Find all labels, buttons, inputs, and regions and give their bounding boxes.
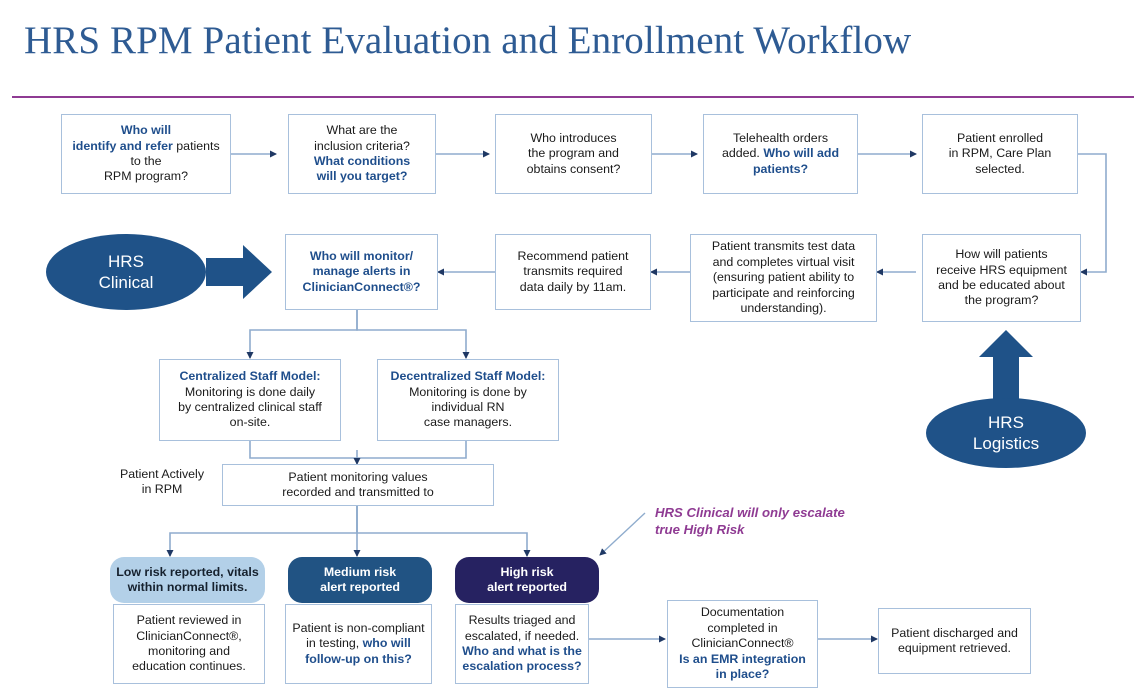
pill-text: Medium riskalert reported (320, 565, 400, 596)
box-text: Results triaged andescalated, if needed.… (462, 613, 582, 675)
oval-label: HRSLogistics (973, 412, 1039, 454)
high-risk-annotation: HRS Clinical will only escalatetrue High… (655, 504, 885, 538)
box-receive-equipment-education[interactable]: How will patientsreceive HRS equipmentan… (922, 234, 1081, 322)
box-text: Recommend patienttransmits requireddata … (518, 249, 629, 295)
page-title: HRS RPM Patient Evaluation and Enrollmen… (24, 18, 911, 64)
box-patient-monitoring-values[interactable]: Patient monitoring valuesrecorded and tr… (222, 464, 494, 506)
box-telehealth-orders[interactable]: Telehealth ordersadded. Who will addpati… (703, 114, 858, 194)
box-recommend-transmit-daily[interactable]: Recommend patienttransmits requireddata … (495, 234, 651, 310)
box-identify-and-refer[interactable]: Who willidentify and refer patients to t… (61, 114, 231, 194)
box-decentralized-staff-model[interactable]: Decentralized Staff Model:Monitoring is … (377, 359, 559, 441)
pill-text: High riskalert reported (487, 565, 567, 596)
hrs-logistics-block-arrow (979, 330, 1033, 400)
oval-label: HRSClinical (99, 251, 154, 293)
box-introduces-program[interactable]: Who introducesthe program andobtains con… (495, 114, 652, 194)
box-patient-discharged[interactable]: Patient discharged andequipment retrieve… (878, 608, 1031, 674)
box-text: Patient discharged andequipment retrieve… (891, 626, 1018, 657)
hrs-logistics-oval[interactable]: HRSLogistics (926, 398, 1086, 468)
label-text: Patient Activelyin RPM (120, 467, 204, 496)
box-patient-enrolled[interactable]: Patient enrolledin RPM, Care Planselecte… (922, 114, 1078, 194)
box-text: What are theinclusion criteria?What cond… (314, 123, 410, 185)
box-text: Who will monitor/manage alerts inClinici… (303, 249, 421, 295)
patient-actively-in-rpm-label: Patient Activelyin RPM (106, 467, 218, 498)
annotation-text: HRS Clinical will only escalatetrue High… (655, 505, 845, 537)
box-text: Centralized Staff Model:Monitoring is do… (178, 369, 322, 431)
hrs-clinical-oval[interactable]: HRSClinical (46, 234, 206, 310)
box-text: Decentralized Staff Model:Monitoring is … (391, 369, 546, 431)
box-text: Patient monitoring valuesrecorded and tr… (282, 470, 434, 501)
box-text: Who introducesthe program andobtains con… (527, 131, 621, 177)
box-text: Patient is non-compliantin testing, who … (292, 621, 424, 667)
box-text: Documentationcompleted inClinicianConnec… (679, 605, 806, 682)
box-text: How will patientsreceive HRS equipmentan… (936, 247, 1067, 309)
medium-risk-pill[interactable]: Medium riskalert reported (288, 557, 432, 603)
box-monitor-manage-alerts[interactable]: Who will monitor/manage alerts inClinici… (285, 234, 438, 310)
box-documentation-completed[interactable]: Documentationcompleted inClinicianConnec… (667, 600, 818, 688)
box-patient-reviewed[interactable]: Patient reviewed inClinicianConnect®,mon… (113, 604, 265, 684)
box-inclusion-criteria[interactable]: What are theinclusion criteria?What cond… (288, 114, 436, 194)
hrs-clinical-block-arrow (206, 245, 272, 299)
pill-text: Low risk reported, vitalswithin normal l… (116, 565, 259, 596)
high-risk-pill[interactable]: High riskalert reported (455, 557, 599, 603)
box-text: Patient transmits test dataand completes… (712, 239, 855, 316)
box-text: Who willidentify and refer patients to t… (67, 123, 225, 185)
box-centralized-staff-model[interactable]: Centralized Staff Model:Monitoring is do… (159, 359, 341, 441)
title-divider (12, 96, 1134, 98)
low-risk-pill[interactable]: Low risk reported, vitalswithin normal l… (110, 557, 265, 603)
box-text: Patient reviewed inClinicianConnect®,mon… (132, 613, 246, 675)
box-text: Telehealth ordersadded. Who will addpati… (722, 131, 839, 177)
box-patient-non-compliant[interactable]: Patient is non-compliantin testing, who … (285, 604, 432, 684)
box-patient-transmits-test-data[interactable]: Patient transmits test dataand completes… (690, 234, 877, 322)
box-results-triaged[interactable]: Results triaged andescalated, if needed.… (455, 604, 589, 684)
box-text: Patient enrolledin RPM, Care Planselecte… (949, 131, 1052, 177)
